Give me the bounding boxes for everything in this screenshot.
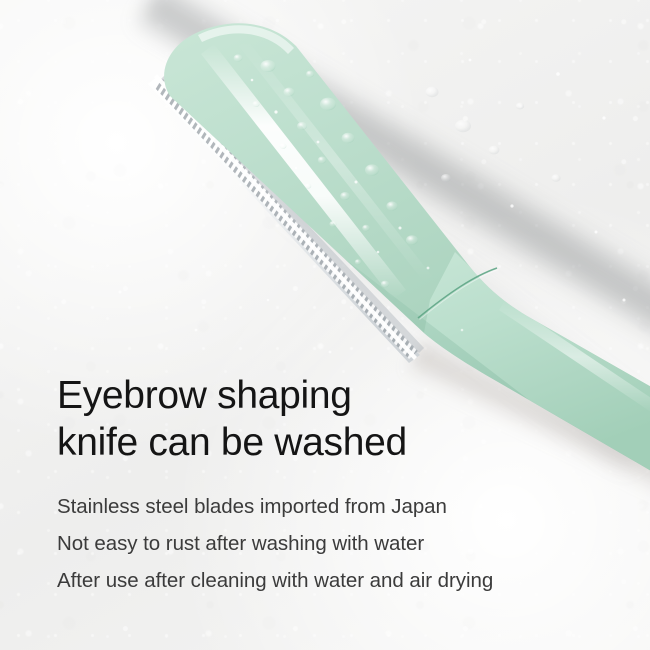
feature-item: Not easy to rust after washing with wate… [57,529,597,559]
product-poster: Eyebrow shaping knife can be washed Stai… [0,0,650,650]
headline: Eyebrow shaping knife can be washed [57,372,597,466]
feature-item: Stainless steel blades imported from Jap… [57,492,597,522]
copy-block: Eyebrow shaping knife can be washed Stai… [57,372,597,603]
feature-list: Stainless steel blades imported from Jap… [57,492,597,596]
feature-item: After use after cleaning with water and … [57,566,597,596]
